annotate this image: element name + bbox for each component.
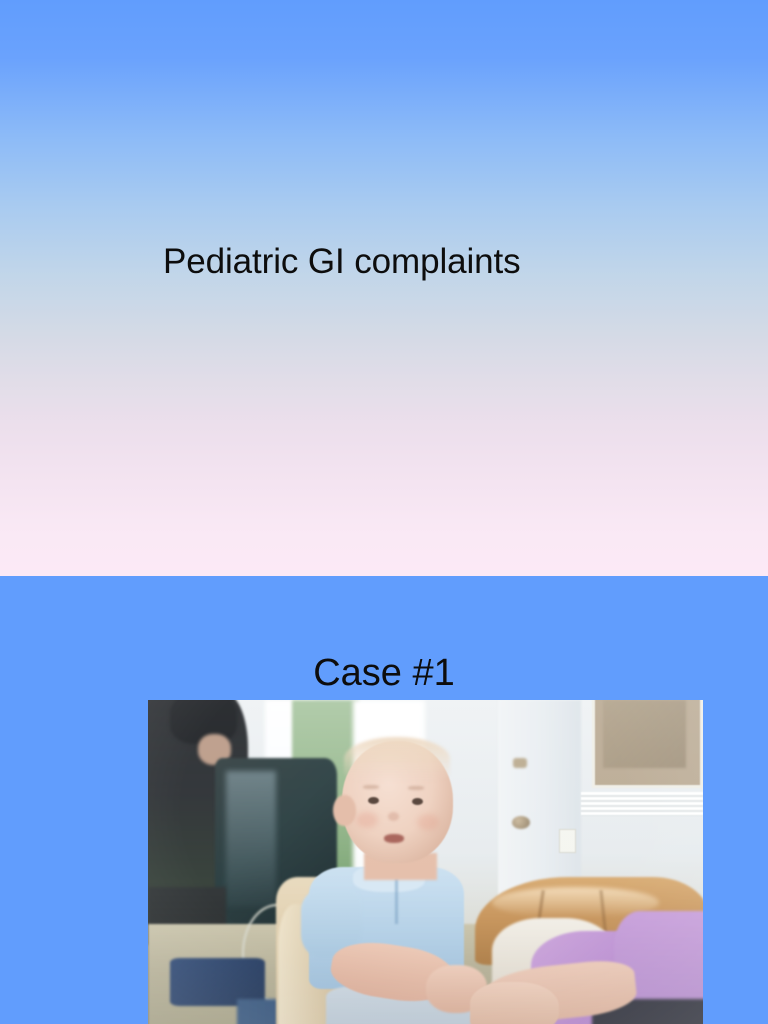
slide-1-title: Pediatric GI complaints bbox=[163, 239, 613, 285]
photo-baby-eye-right bbox=[412, 798, 423, 805]
photo-baby-brow-right bbox=[408, 786, 424, 790]
case-photo bbox=[148, 700, 703, 1024]
photo-baby-eye-left bbox=[368, 797, 379, 804]
photo-baby-ear bbox=[333, 795, 355, 826]
photo-baby-cheek-right bbox=[417, 814, 439, 830]
photo-wall-frame-art bbox=[603, 700, 686, 768]
slide-1: Pediatric GI complaints bbox=[0, 0, 768, 576]
photo-adult-hand bbox=[470, 982, 559, 1024]
slide-2-title: Case #1 bbox=[0, 650, 768, 696]
photo-baby-mouth bbox=[384, 834, 404, 843]
photo-dark-chair-sheen bbox=[226, 771, 276, 907]
photo-door-knob bbox=[512, 816, 530, 829]
slide-deck: Pediatric GI complaints Case #1 bbox=[0, 0, 768, 1024]
photo-window-blinds bbox=[581, 792, 703, 816]
photo-baby-hair bbox=[344, 737, 449, 781]
photo-light-switch bbox=[559, 829, 576, 853]
photo-baby-brow-left bbox=[363, 785, 379, 789]
photo-image bbox=[148, 700, 703, 1024]
photo-door-lock bbox=[513, 758, 527, 768]
slide-2: Case #1 bbox=[0, 576, 768, 1024]
photo-baby-placket bbox=[395, 877, 398, 925]
